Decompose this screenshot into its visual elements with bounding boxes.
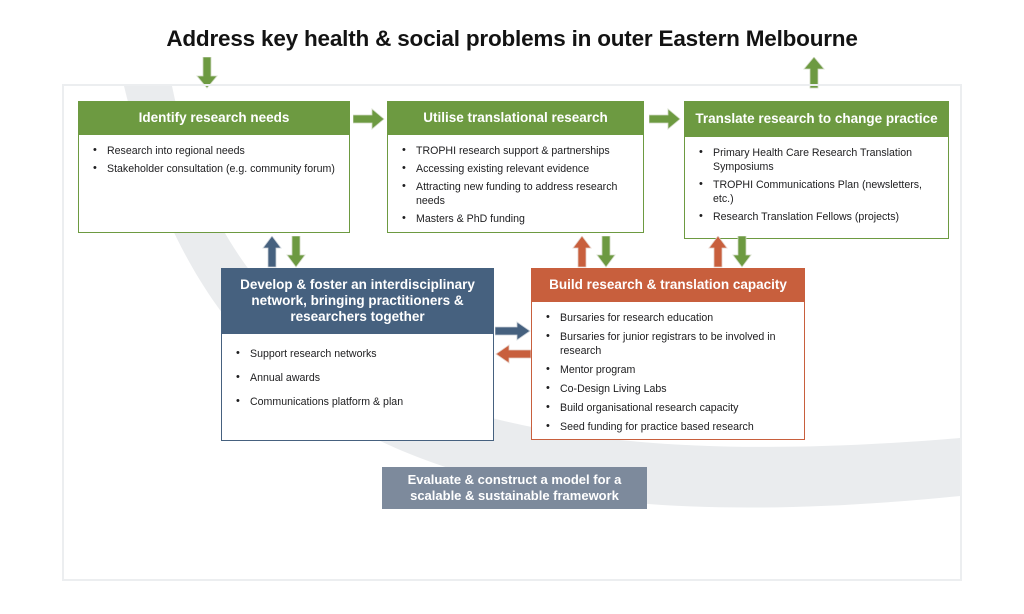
box-translate-body: Primary Health Care Research Translation… xyxy=(685,137,948,236)
arrow-down-utilise-to-capacity xyxy=(596,236,616,268)
list-item: Seed funding for practice based research xyxy=(546,420,792,434)
list-item: Build organisational research capacity xyxy=(546,401,792,415)
arrow-up-capacity-to-translate xyxy=(708,236,728,268)
box-translate-heading: Translate research to change practice xyxy=(685,102,948,137)
box-network-body: Support research networks Annual awards … xyxy=(222,334,493,427)
box-build-research-translation-capacity[interactable]: Build research & translation capacity Bu… xyxy=(531,268,805,440)
list-item: Bursaries for research education xyxy=(546,311,792,325)
list-item: Mentor program xyxy=(546,363,792,377)
diagram-canvas: Address key health & social problems in … xyxy=(0,0,1024,614)
box-identify-heading: Identify research needs xyxy=(79,102,349,135)
page-title: Address key health & social problems in … xyxy=(0,26,1024,52)
list-item: Accessing existing relevant evidence xyxy=(402,162,631,176)
list-item: Annual awards xyxy=(236,371,481,385)
arrow-left-capacity-to-network xyxy=(495,344,531,364)
arrow-down-identify-to-network xyxy=(286,236,306,268)
list-item: Bursaries for junior registrars to be in… xyxy=(546,330,792,358)
list-item: Co-Design Living Labs xyxy=(546,382,792,396)
box-utilise-body: TROPHI research support & partnerships A… xyxy=(388,135,643,238)
box-identify-body: Research into regional needs Stakeholder… xyxy=(79,135,349,188)
arrow-down-translate-to-capacity xyxy=(732,236,752,268)
list-item: Research Translation Fellows (projects) xyxy=(699,210,936,224)
arrow-right-network-to-capacity xyxy=(495,321,531,341)
box-translate-research-to-change-practice[interactable]: Translate research to change practice Pr… xyxy=(684,101,949,239)
list-item: Research into regional needs xyxy=(93,144,337,158)
box-develop-foster-network[interactable]: Develop & foster an interdisciplinary ne… xyxy=(221,268,494,441)
arrow-right-utilise-to-translate xyxy=(649,108,681,130)
arrow-right-identify-to-utilise xyxy=(353,108,385,130)
box-utilise-translational-research[interactable]: Utilise translational research TROPHI re… xyxy=(387,101,644,233)
list-item: Stakeholder consultation (e.g. community… xyxy=(93,162,337,176)
list-item: TROPHI Communications Plan (newsletters,… xyxy=(699,178,936,206)
list-item: Attracting new funding to address resear… xyxy=(402,180,631,208)
banner-label: Evaluate & construct a model for a scala… xyxy=(390,472,639,505)
box-identify-research-needs[interactable]: Identify research needs Research into re… xyxy=(78,101,350,233)
banner-evaluate-construct-model[interactable]: Evaluate & construct a model for a scala… xyxy=(382,467,647,509)
arrow-up-network-to-identify xyxy=(262,236,282,268)
list-item: Primary Health Care Research Translation… xyxy=(699,146,936,174)
diagram-frame: Identify research needs Research into re… xyxy=(62,84,962,581)
box-capacity-heading: Build research & translation capacity xyxy=(532,269,804,302)
list-item: Support research networks xyxy=(236,347,481,361)
box-capacity-body: Bursaries for research education Bursari… xyxy=(532,302,804,448)
list-item: TROPHI research support & partnerships xyxy=(402,144,631,158)
box-utilise-heading: Utilise translational research xyxy=(388,102,643,135)
arrow-up-capacity-to-utilise xyxy=(572,236,592,268)
list-item: Communications platform & plan xyxy=(236,395,481,409)
list-item: Masters & PhD funding xyxy=(402,212,631,226)
box-network-heading: Develop & foster an interdisciplinary ne… xyxy=(222,269,493,334)
